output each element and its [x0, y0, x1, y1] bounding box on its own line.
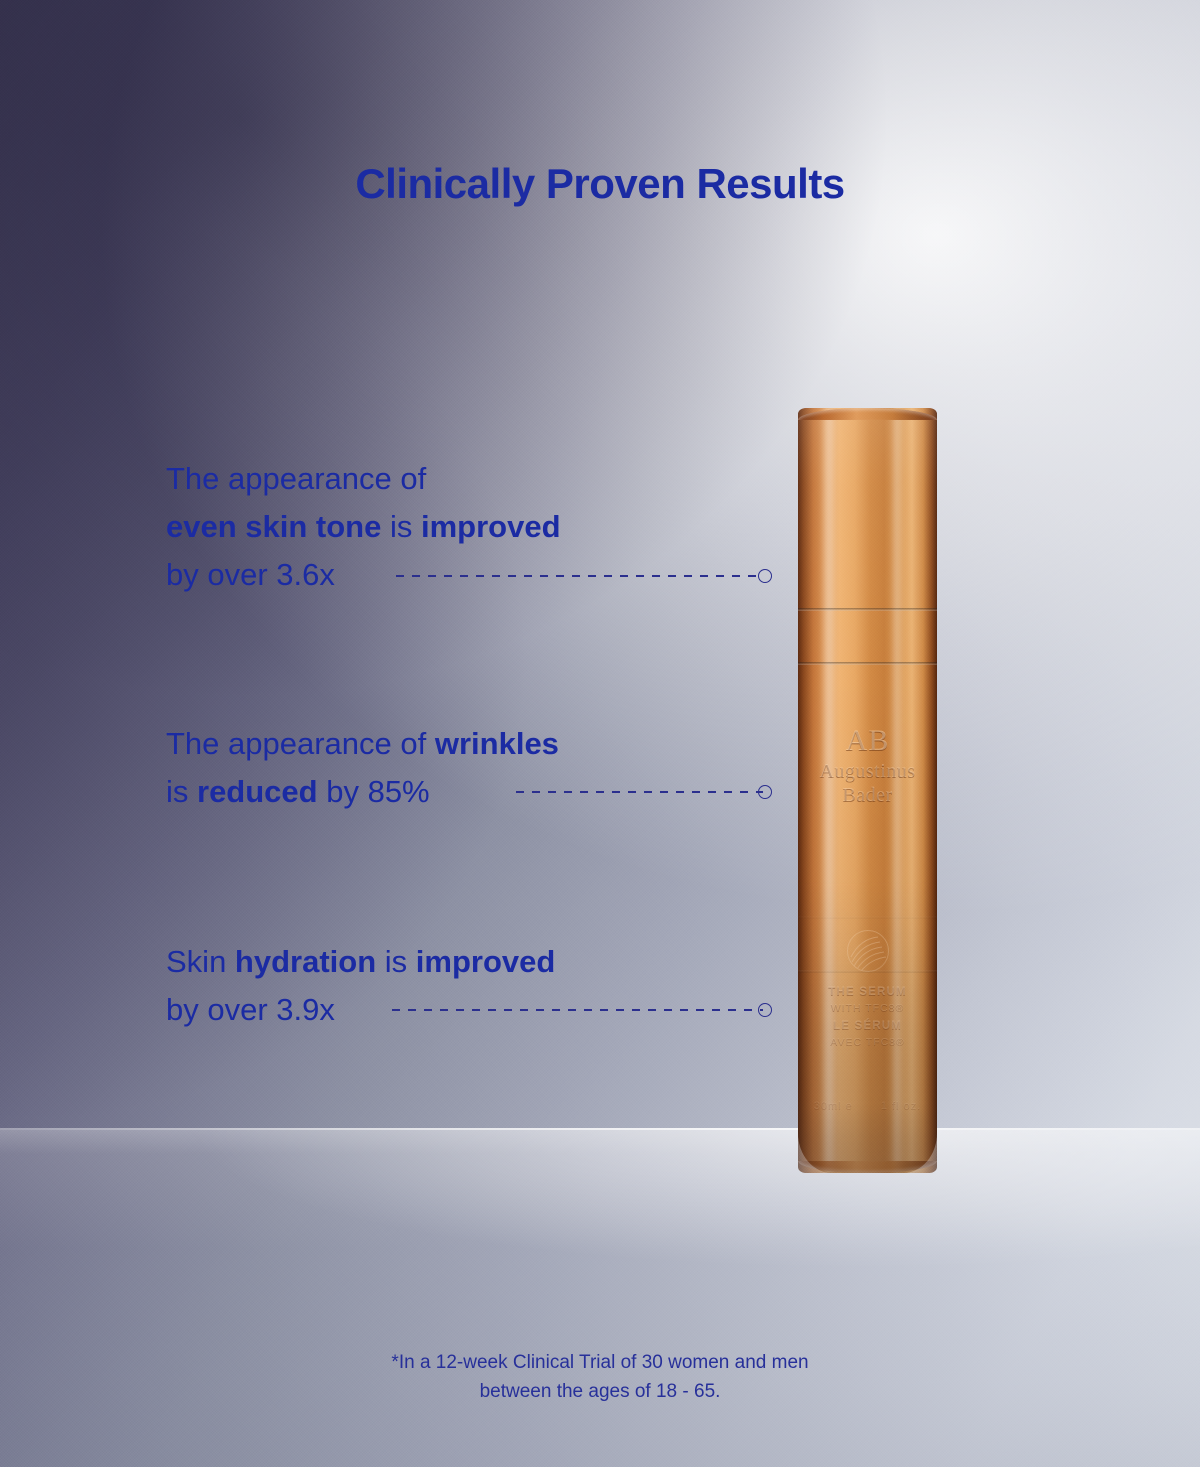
clinical-trial-footnote: *In a 12-week Clinical Trial of 30 women…: [0, 1348, 1200, 1406]
leader-line-hydration: [392, 1003, 772, 1017]
claim-3-prefix: Skin: [166, 944, 235, 979]
claim-hydration: Skin hydration is improved by over 3.9x: [166, 938, 555, 1034]
footnote-line-1: *In a 12-week Clinical Trial of 30 women…: [0, 1348, 1200, 1377]
claim-1-line-2: even skin tone is improved: [166, 503, 561, 551]
claim-wrinkles: The appearance of wrinkles is reduced by…: [166, 720, 559, 816]
claim-3-line-1: Skin hydration is improved: [166, 938, 555, 986]
claim-2-bold-subject: wrinkles: [435, 726, 559, 761]
leader-line-even-skin-tone: [396, 569, 772, 583]
claim-1-line-1: The appearance of: [166, 455, 561, 503]
claim-2-value: by 85%: [318, 774, 430, 809]
leader-endpoint-circle: [758, 569, 772, 583]
claim-2-line-1: The appearance of wrinkles: [166, 720, 559, 768]
product-marketing-image: AB Augustinus Bader THE SERUM WITH TFC8®…: [0, 0, 1200, 1467]
leader-endpoint-circle: [758, 1003, 772, 1017]
leader-dashes: [392, 1009, 763, 1011]
leader-endpoint-circle: [758, 785, 772, 799]
claim-3-bold-verb: improved: [416, 944, 556, 979]
claim-2-plain: The appearance of: [166, 726, 435, 761]
claim-2-bold-verb: reduced: [197, 774, 318, 809]
claim-1-connector: is: [381, 509, 421, 544]
page-title: Clinically Proven Results: [0, 160, 1200, 208]
leader-line-wrinkles: [516, 785, 772, 799]
claim-3-connector: is: [376, 944, 416, 979]
claim-2-prefix: is: [166, 774, 197, 809]
leader-dashes: [396, 575, 763, 577]
leader-dashes: [516, 791, 763, 793]
claim-2-line-2: is reduced by 85%: [166, 768, 559, 816]
footnote-line-2: between the ages of 18 - 65.: [0, 1377, 1200, 1406]
claim-1-bold-subject: even skin tone: [166, 509, 381, 544]
claim-3-bold-subject: hydration: [235, 944, 376, 979]
claim-1-bold-verb: improved: [421, 509, 561, 544]
